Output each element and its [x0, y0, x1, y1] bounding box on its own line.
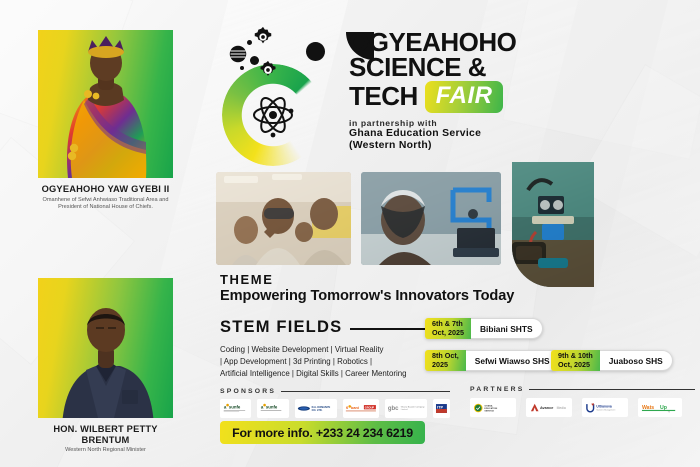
svg-text:D.A. KONANYE: D.A. KONANYE — [312, 405, 331, 409]
svg-text:CO. LTD.: CO. LTD. — [312, 408, 323, 412]
stem-fields-list: Coding | Website Development | Virtual R… — [220, 344, 435, 380]
da-konanye-logo-icon: D.A. KONANYE CO. LTD. — [297, 401, 335, 416]
asunafo-logo-icon: a sunfe — [222, 401, 249, 416]
striped-sphere-icon — [229, 45, 247, 63]
schedule-badge-3[interactable]: 9th & 10th Oct, 2025 Juaboso SHS — [551, 350, 673, 371]
ghana-education-service-logo-icon: GHANA EDUCATION SERVICE — [473, 400, 513, 416]
svg-text:SERVICE: SERVICE — [484, 410, 494, 412]
sponsor-logo-asunafo-rural-bank: a sunfe — [220, 399, 251, 418]
asunafo-gold-logo-icon: a sunfe — [259, 401, 286, 416]
svg-text:sunfe: sunfe — [266, 405, 278, 410]
black-dot-icon — [240, 66, 244, 70]
sponsor-logo-sabani: s bani GROUP — [343, 399, 380, 418]
schedule-badges: 6th & 7th Oct, 2025 Bibiani SHTS 8th Oct… — [425, 318, 690, 380]
stem-fields-header: STEM FIELDS — [220, 318, 435, 337]
partnership-kicker: in partnership with — [349, 118, 689, 128]
svg-text:sunfe: sunfe — [229, 405, 241, 410]
stem-fields-title: STEM FIELDS — [220, 318, 342, 337]
sponsor-logo-da-konanye: D.A. KONANYE CO. LTD. — [295, 399, 337, 418]
sponsor-logo-gbc: gbc Ghana Bauxite Company Limited — [385, 399, 427, 418]
partner-line1: Ghana Education Service — [349, 128, 689, 140]
chief-figure-icon — [38, 30, 173, 178]
sponsor-logo-asunafo-gold: a sunfe — [257, 399, 288, 418]
gear-small-icon — [258, 60, 278, 80]
mtp-logo-icon: ITP — [435, 401, 448, 416]
partner-logo-avance-media: Avance Media — [526, 398, 572, 417]
dignitary-role-1: Omanhene of Sefwi Anhwiaso Traditional A… — [38, 197, 173, 212]
title-line3: TECH — [349, 84, 418, 109]
svg-text:s: s — [346, 405, 349, 410]
black-dot-icon — [247, 40, 252, 45]
schedule-date-2: 8th Oct, 2025 — [425, 350, 466, 371]
svg-text:Media: Media — [557, 406, 566, 410]
sponsors-header: SPONSORS — [220, 388, 450, 395]
photo-robotics-art — [361, 172, 501, 265]
portrait-chief-photo — [38, 30, 173, 178]
schedule-school-3: Juaboso SHS — [600, 350, 673, 371]
partners-logo-row: GHANA EDUCATION SERVICE Avance Media Ult… — [470, 398, 695, 417]
schedule-date-1: 6th & 7th Oct, 2025 — [425, 318, 471, 339]
dignitary-role-2: Western North Regional Minister — [38, 447, 173, 455]
svg-text:bani: bani — [351, 406, 359, 410]
photo-vr-session — [216, 172, 351, 265]
partners-label: PARTNERS — [470, 386, 524, 393]
gbc-logo-icon: gbc Ghana Bauxite Company Limited — [387, 401, 425, 416]
partners-section: PARTNERS GHANA EDUCATION SERVICE Avance … — [470, 386, 695, 417]
partners-header: PARTNERS — [470, 386, 695, 393]
sponsors-label: SPONSORS — [220, 388, 276, 395]
stem-fields-line3: Artificial Intelligence | Digital Skills… — [220, 368, 435, 380]
theme-text: Empowering Tomorrow's Innovators Today — [220, 288, 514, 304]
dignitary-name-1: OGYEAHOHO YAW GYEBI II — [38, 184, 173, 195]
sponsors-section: SPONSORS a sunfe a sunfe — [220, 388, 450, 418]
photo-robot-car-art — [512, 162, 594, 287]
sponsors-divider — [281, 391, 450, 392]
photo-vr-art — [216, 172, 351, 265]
schedule-badge-1[interactable]: 6th & 7th Oct, 2025 Bibiani SHTS — [425, 318, 543, 339]
stem-fields-line2: | App Development | 3d Printing | Roboti… — [220, 356, 435, 368]
svg-text:a: a — [261, 406, 264, 411]
dignitary-card-2: HON. WILBERT PETTY BRENTUM Western North… — [38, 278, 173, 455]
dignitary-role-1-line2: President of National House of Chiefs. — [58, 204, 153, 210]
svg-text:Avance: Avance — [540, 406, 553, 410]
svg-text:gbc: gbc — [388, 406, 399, 412]
stem-fields-line1: Coding | Website Development | Virtual R… — [220, 344, 435, 356]
contact-cta-bar[interactable]: For more info. +233 24 234 6219 — [220, 421, 425, 444]
stem-divider — [350, 328, 435, 330]
svg-text:GROUP: GROUP — [364, 406, 374, 410]
stem-fields-section: STEM FIELDS Coding | Website Development… — [220, 318, 435, 380]
photo-strip — [216, 170, 686, 270]
black-circle-icon — [306, 42, 325, 61]
dignitary-name-2: HON. WILBERT PETTY BRENTUM — [38, 424, 173, 445]
black-dot-icon — [250, 56, 259, 65]
photo-robotics-arm — [361, 172, 501, 265]
partner-line2: (Western North) — [349, 140, 689, 152]
ultranova-logo-icon: Ultranova Systems Management — [585, 400, 625, 415]
svg-text:Ghana Bauxite Company: Ghana Bauxite Company — [401, 406, 425, 409]
partner-logo-watsup-tv: Wats Up TV — [638, 398, 682, 417]
watsup-logo-icon: Wats Up TV — [641, 400, 679, 416]
theme-section: THEME Empowering Tomorrow's Innovators T… — [220, 272, 514, 304]
svg-text:Limited: Limited — [401, 408, 409, 411]
schedule-badge-2[interactable]: 8th Oct, 2025 Sefwi Wiawso SHS — [425, 350, 560, 371]
partner-logo-ghana-education-service: GHANA EDUCATION SERVICE — [470, 398, 516, 417]
dignitary-card-1: OGYEAHOHO YAW GYEBI II Omanhene of Sefwi… — [38, 30, 173, 212]
svg-text:GHANA: GHANA — [484, 404, 492, 407]
partners-divider — [529, 389, 695, 390]
sabani-logo-icon: s bani GROUP — [345, 401, 378, 416]
atom-icon — [249, 91, 297, 139]
portrait-minister-photo — [38, 278, 173, 418]
sponsor-logo-mtp: ITP — [433, 399, 450, 418]
schedule-school-1: Bibiani SHTS — [471, 318, 543, 339]
avance-media-logo-icon: Avance Media — [529, 400, 569, 415]
title-line3-row: TECH FAIR — [349, 81, 689, 113]
svg-text:TV: TV — [668, 411, 671, 413]
svg-text:Systems Management: Systems Management — [596, 408, 615, 411]
fair-badge: FAIR — [425, 81, 504, 113]
partner-logo-ultranova: Ultranova Systems Management — [582, 398, 628, 417]
title-line2: SCIENCE & — [349, 55, 689, 80]
dignitary-role-1-line1: Omanhene of Sefwi Anhwiaso Traditional A… — [43, 197, 169, 203]
poster-canvas: OGYEAHOHO YAW GYEBI II Omanhene of Sefwi… — [0, 0, 700, 467]
schedule-date-3: 9th & 10th Oct, 2025 — [551, 350, 600, 371]
svg-text:a: a — [224, 406, 227, 411]
gear-icon — [252, 26, 274, 48]
title-block: OGYEAHOHO SCIENCE & TECH FAIR in partner… — [349, 30, 689, 151]
svg-text:Ultranova: Ultranova — [596, 405, 611, 409]
photo-robot-car — [512, 162, 594, 287]
minister-figure-icon — [38, 278, 173, 418]
dignitaries-column: OGYEAHOHO YAW GYEBI II Omanhene of Sefwi… — [0, 0, 210, 467]
schedule-school-2: Sefwi Wiawso SHS — [466, 350, 560, 371]
sponsors-logo-row: a sunfe a sunfe D.A — [220, 399, 450, 418]
theme-label: THEME — [220, 272, 514, 287]
logo-and-title: OGYEAHOHO SCIENCE & TECH FAIR in partner… — [216, 26, 686, 172]
svg-text:ITP: ITP — [437, 405, 444, 410]
